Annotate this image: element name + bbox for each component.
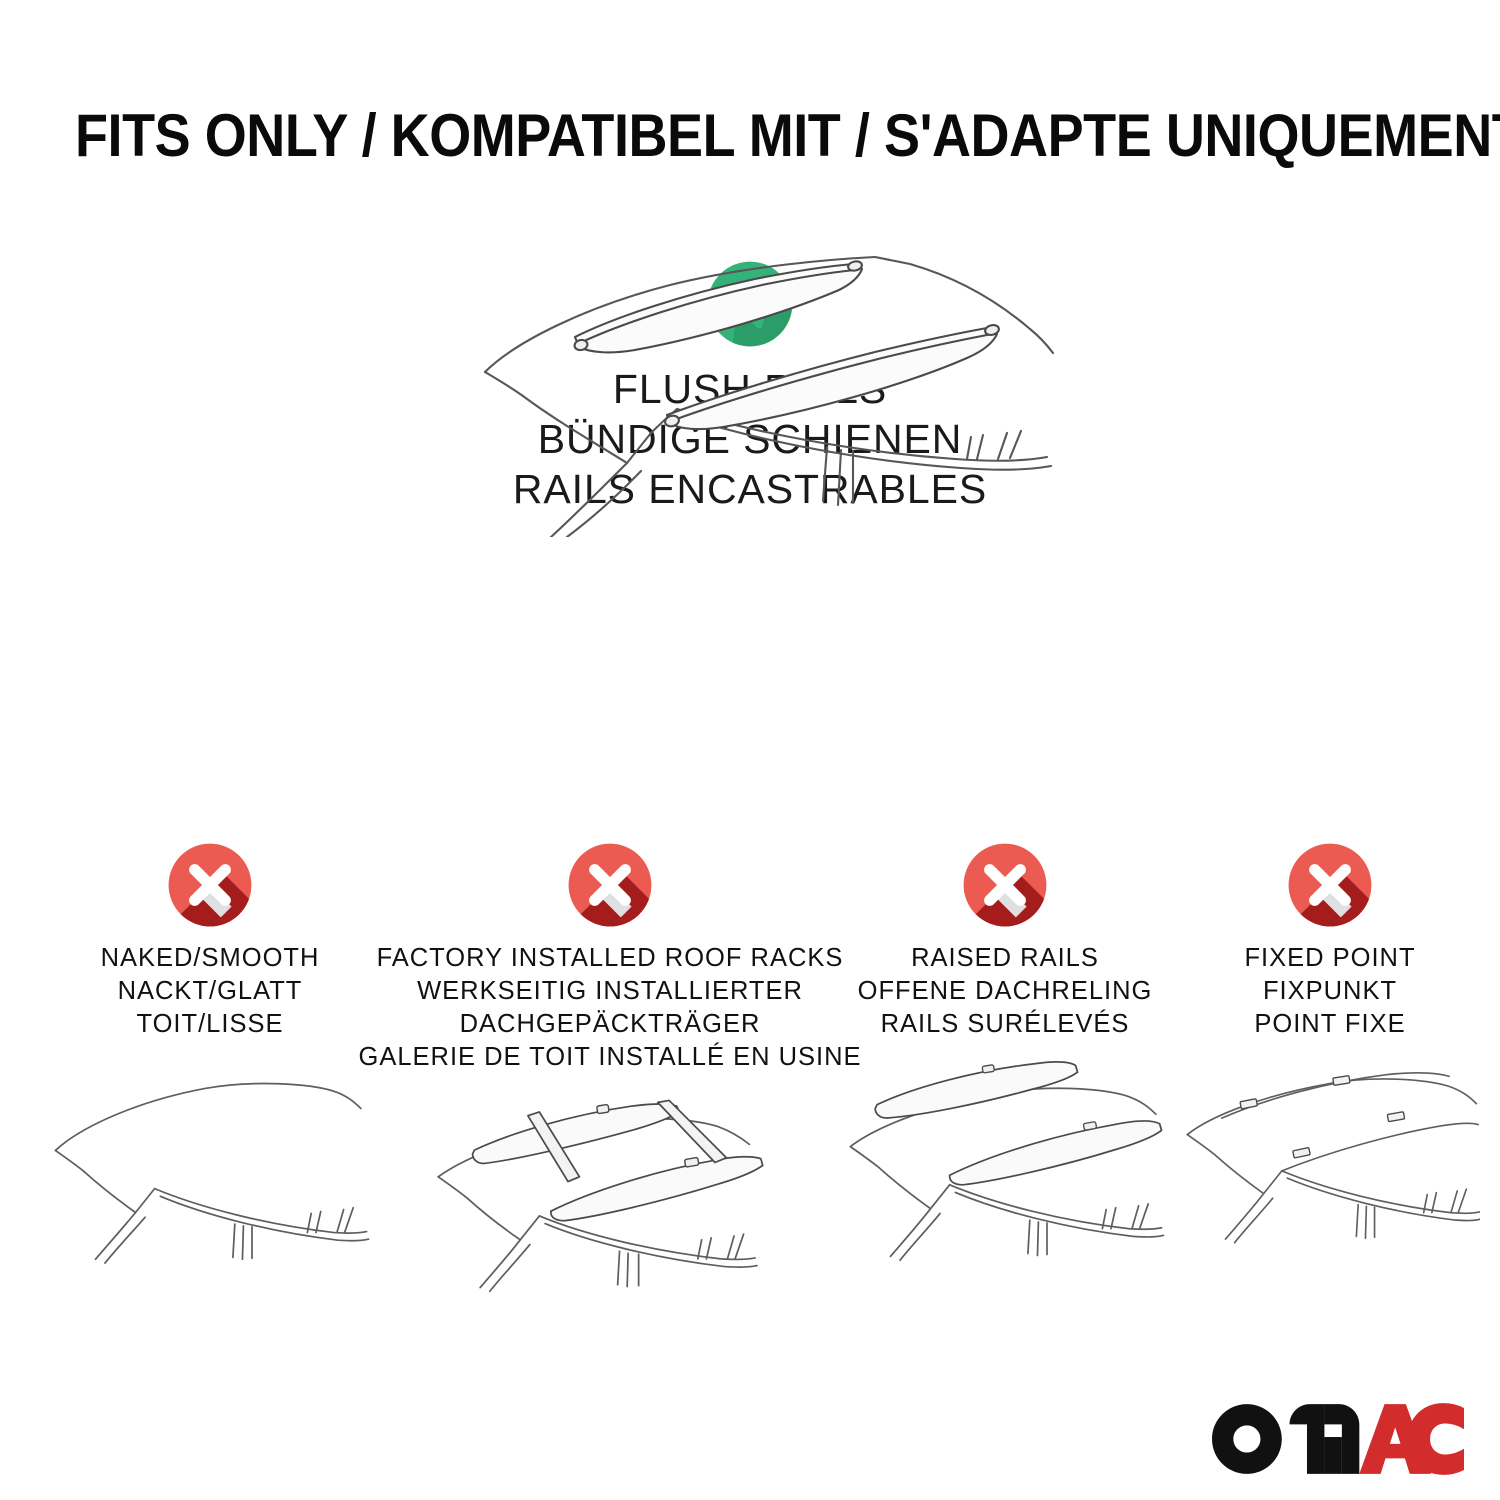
logo-letter-o [1212, 1404, 1282, 1474]
incompatible-label-fr: RAILS SURÉLEVÉS [858, 1008, 1153, 1041]
x-circle-icon [960, 840, 1050, 930]
incompatible-label-de: FIXPUNKT [1244, 975, 1415, 1008]
car-roof-naked-smooth-illustration [30, 1055, 390, 1265]
x-circle-icon [1285, 840, 1375, 930]
incompatible-item-factory-roof-racks: FACTORY INSTALLED ROOF RACKS WERKSEITIG … [390, 840, 830, 1299]
infographic-page: FITS ONLY / KOMPATIBEL MIT / S'ADAPTE UN… [0, 0, 1500, 1500]
incompatible-label-de-1: WERKSEITIG INSTALLIERTER [359, 975, 862, 1008]
incompatible-label-de: NACKT/GLATT [101, 975, 320, 1008]
incompatible-label-de-2: DACHGEPÄCKTRÄGER [359, 1008, 862, 1041]
incompatible-label-group: FIXED POINT FIXPUNKT POINT FIXE [1244, 942, 1415, 1041]
incompatible-label-fr: GALERIE DE TOIT INSTALLÉ EN USINE [359, 1041, 862, 1074]
incompatible-label-group: FACTORY INSTALLED ROOF RACKS WERKSEITIG … [359, 942, 862, 1075]
x-circle-icon [165, 840, 255, 930]
incompatible-item-raised-rails: RAISED RAILS OFFENE DACHRELING RAILS SUR… [840, 840, 1170, 1265]
incompatible-label-en: NAKED/SMOOTH [101, 942, 320, 975]
incompatible-item-fixed-point: FIXED POINT FIXPUNKT POINT FIXE [1180, 840, 1480, 1265]
incompatible-label-en: FACTORY INSTALLED ROOF RACKS [359, 942, 862, 975]
car-roof-factory-racks-illustration [390, 1089, 830, 1299]
incompatible-label-en: FIXED POINT [1244, 942, 1415, 975]
incompatible-label-fr: TOIT/LISSE [101, 1008, 320, 1041]
incompatible-label-group: RAISED RAILS OFFENE DACHRELING RAILS SUR… [858, 942, 1153, 1041]
incompatible-label-en: RAISED RAILS [858, 942, 1153, 975]
incompatible-label-de: OFFENE DACHRELING [858, 975, 1153, 1008]
car-roof-flush-rails-illustration [455, 237, 1055, 537]
car-roof-raised-rails-illustration [840, 1055, 1170, 1265]
incompatible-label-group: NAKED/SMOOTH NACKT/GLATT TOIT/LISSE [101, 942, 320, 1041]
page-title: FITS ONLY / KOMPATIBEL MIT / S'ADAPTE UN… [75, 104, 1425, 167]
incompatible-item-naked-smooth: NAKED/SMOOTH NACKT/GLATT TOIT/LISSE [30, 840, 390, 1265]
logo-letter-m [1290, 1404, 1360, 1474]
incompatible-section: NAKED/SMOOTH NACKT/GLATT TOIT/LISSE [0, 840, 1500, 1299]
omac-logo [1212, 1398, 1464, 1478]
x-circle-icon [565, 840, 655, 930]
car-roof-fixed-point-illustration [1180, 1055, 1480, 1265]
incompatible-label-fr: POINT FIXE [1244, 1008, 1415, 1041]
